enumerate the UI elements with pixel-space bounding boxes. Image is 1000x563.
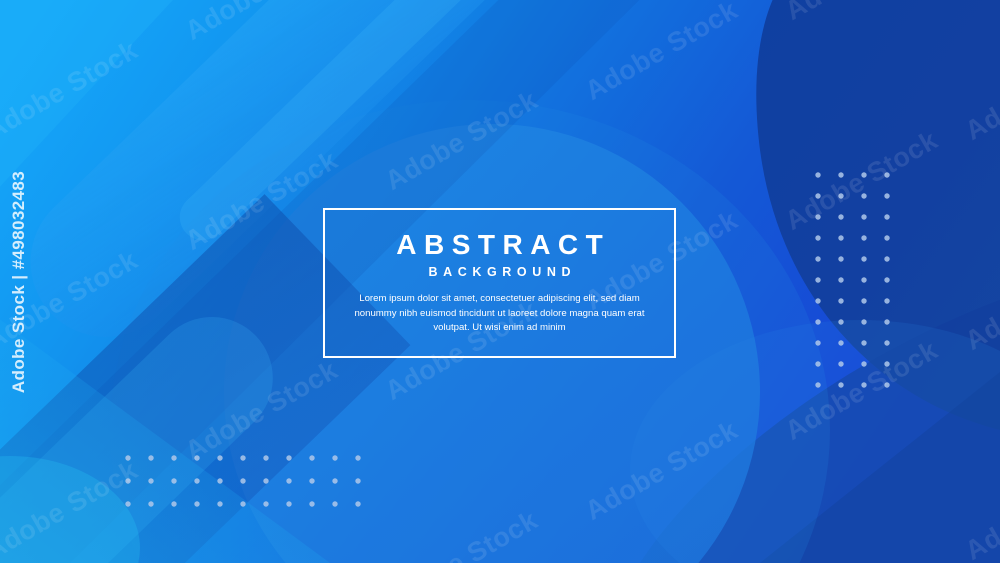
page-title: ABSTRACT: [389, 231, 611, 259]
abstract-background-canvas: Adobe Stock Adobe Stock Adobe Stock Adob…: [0, 0, 1000, 563]
text-frame: ABSTRACT BACKGROUND Lorem ipsum dolor si…: [323, 208, 676, 358]
body-text: Lorem ipsum dolor sit amet, consectetuer…: [341, 292, 659, 335]
page-subtitle: BACKGROUND: [423, 266, 576, 279]
